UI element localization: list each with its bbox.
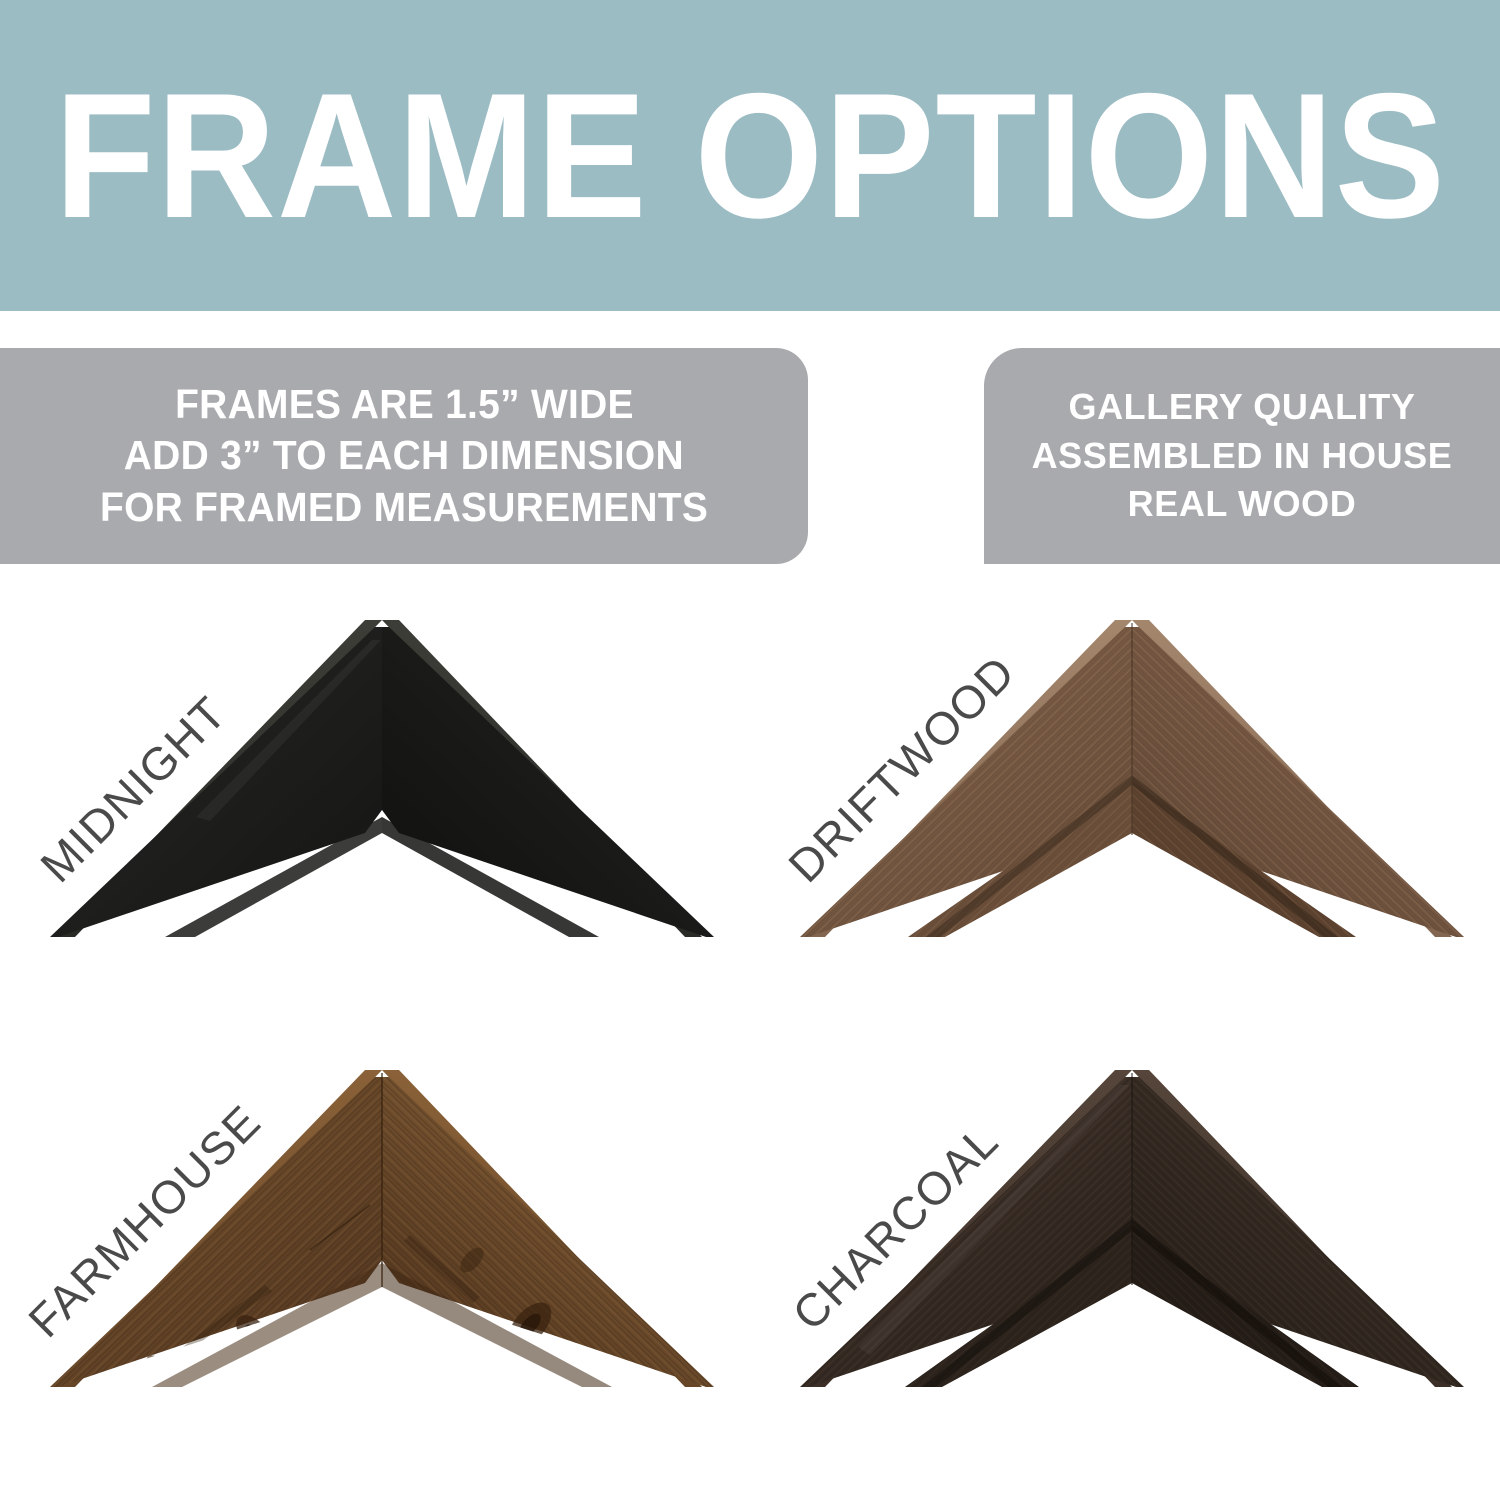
page-title: FRAME OPTIONS — [54, 67, 1446, 245]
info-line: GALLERY QUALITY — [1068, 383, 1415, 432]
frame-grain-right — [1132, 627, 1464, 937]
info-line: FRAMES ARE 1.5” WIDE — [175, 379, 634, 431]
frame-sample-farmhouse[interactable]: FARMHOUSE — [10, 1035, 750, 1455]
header-banner: FRAME OPTIONS — [0, 0, 1500, 311]
info-line: FOR FRAMED MEASUREMENTS — [100, 482, 708, 534]
info-box-quality: GALLERY QUALITY ASSEMBLED IN HOUSE REAL … — [984, 348, 1500, 564]
frame-face-left — [50, 627, 382, 937]
info-box-measurements: FRAMES ARE 1.5” WIDE ADD 3” TO EACH DIME… — [0, 348, 808, 564]
info-line: REAL WOOD — [1128, 480, 1357, 529]
frame-grain-right — [1132, 1077, 1464, 1387]
frame-grain-right — [382, 1077, 714, 1387]
frame-face-right — [382, 627, 714, 937]
info-line: ASSEMBLED IN HOUSE — [1032, 432, 1453, 481]
info-line: ADD 3” TO EACH DIMENSION — [124, 430, 684, 482]
frame-sample-driftwood[interactable]: DRIFTWOOD — [760, 585, 1500, 1005]
frame-sample-midnight[interactable]: MIDNIGHT — [10, 585, 750, 1005]
frame-sample-charcoal[interactable]: CHARCOAL — [760, 1035, 1500, 1455]
